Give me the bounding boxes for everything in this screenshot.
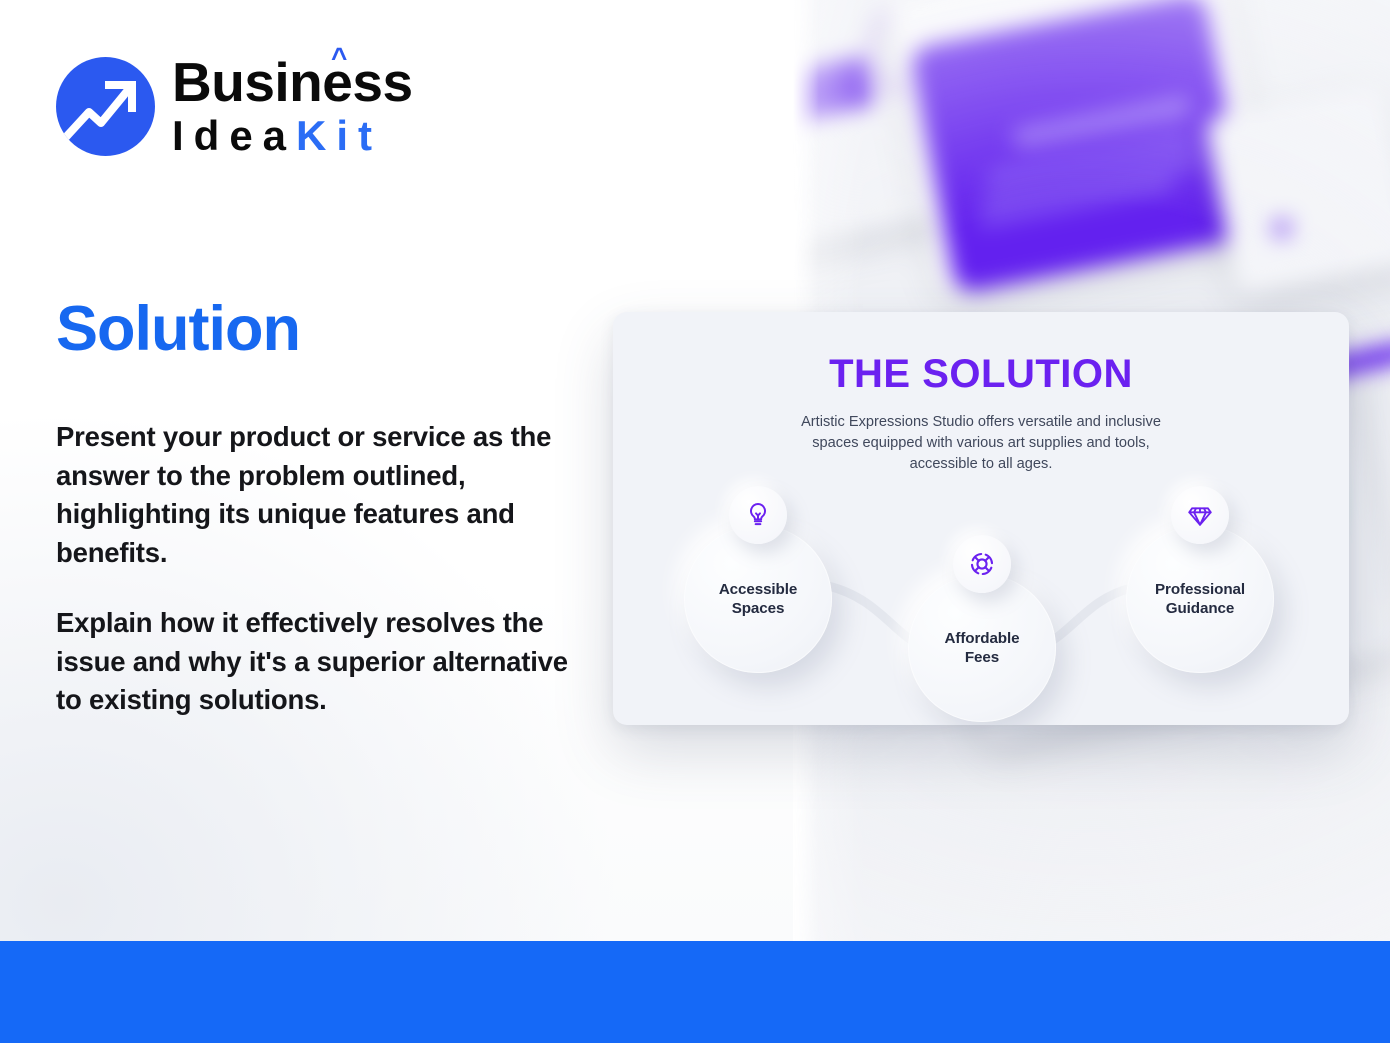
slide-canvas: Business ^ Idea Kit Solution Present you… [0, 0, 1390, 1043]
diamond-icon [1171, 486, 1229, 544]
bg-slide-card [1204, 84, 1390, 295]
brand-wordmark: Business ^ Idea Kit [172, 55, 413, 157]
body-paragraph-2: Explain how it effectively resolves the … [56, 604, 590, 720]
solution-node-label: Professional Guidance [1145, 580, 1255, 619]
footer-bar [0, 941, 1390, 1043]
solution-node-3[interactable]: Professional Guidance [1126, 525, 1274, 673]
body-paragraph-1: Present your product or service as the a… [56, 418, 590, 572]
brand-name-line2: Idea Kit [172, 115, 413, 157]
lifebuoy-icon [953, 535, 1011, 593]
solution-node-label: Accessible Spaces [709, 580, 807, 619]
bg-purple-panel [909, 0, 1251, 294]
solution-node-2[interactable]: Affordable Fees [908, 574, 1056, 722]
brand-name-kit: Kit [296, 115, 382, 157]
solution-card: THE SOLUTION Artistic Expressions Studio… [613, 312, 1349, 725]
solution-node-label: Affordable Fees [935, 629, 1030, 668]
brand-name-business: Business [172, 51, 413, 113]
lightbulb-icon [729, 486, 787, 544]
page-title: Solution [56, 296, 300, 362]
solution-node-1[interactable]: Accessible Spaces [684, 525, 832, 673]
brand-name-line1: Business ^ [172, 55, 413, 110]
brand-accent-hat: ^ [331, 44, 347, 72]
bg-dot [1272, 218, 1292, 238]
brand-logo: Business ^ Idea Kit [56, 55, 413, 157]
brand-name-idea: Idea [172, 115, 296, 157]
growth-arrow-icon [56, 57, 155, 156]
body-copy: Present your product or service as the a… [56, 418, 590, 720]
